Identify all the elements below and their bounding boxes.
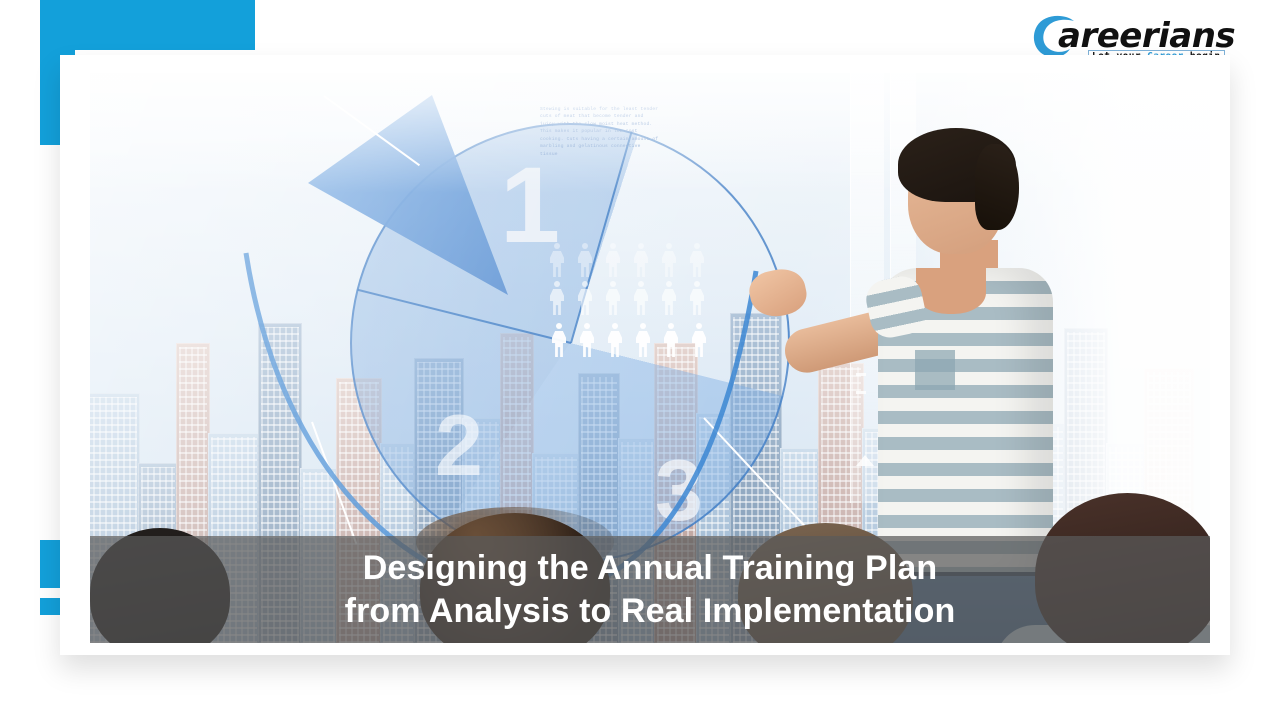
person-icon — [664, 323, 678, 357]
person-icon — [634, 243, 648, 277]
person-icon — [580, 323, 594, 357]
title-banner: Designing the Annual Training Plan from … — [90, 536, 1210, 643]
presenter-collar — [916, 268, 986, 314]
person-icon — [634, 281, 648, 315]
person-icon — [606, 243, 620, 277]
people-row-top — [550, 243, 704, 277]
person-icon — [692, 323, 706, 357]
person-icon — [550, 243, 564, 277]
person-icon — [636, 323, 650, 357]
person-icon — [606, 281, 620, 315]
people-row-middle — [550, 281, 704, 315]
person-icon — [608, 323, 622, 357]
person-icon — [690, 243, 704, 277]
person-icon — [550, 281, 564, 315]
person-icon — [578, 243, 592, 277]
presenter-pocket — [915, 350, 955, 390]
person-icon — [662, 243, 676, 277]
people-row-bottom — [552, 323, 706, 357]
content-card: 1 2 3 Stewing is suitable for the least … — [60, 55, 1230, 655]
title-line-2: from Analysis to Real Implementation — [345, 590, 956, 633]
title-line-1: Designing the Annual Training Plan — [363, 547, 938, 590]
person-icon — [662, 281, 676, 315]
person-icon — [690, 281, 704, 315]
hero-photo: 1 2 3 Stewing is suitable for the least … — [90, 73, 1210, 643]
person-icon — [552, 323, 566, 357]
presenter-hair-back — [975, 144, 1019, 230]
person-icon — [578, 281, 592, 315]
